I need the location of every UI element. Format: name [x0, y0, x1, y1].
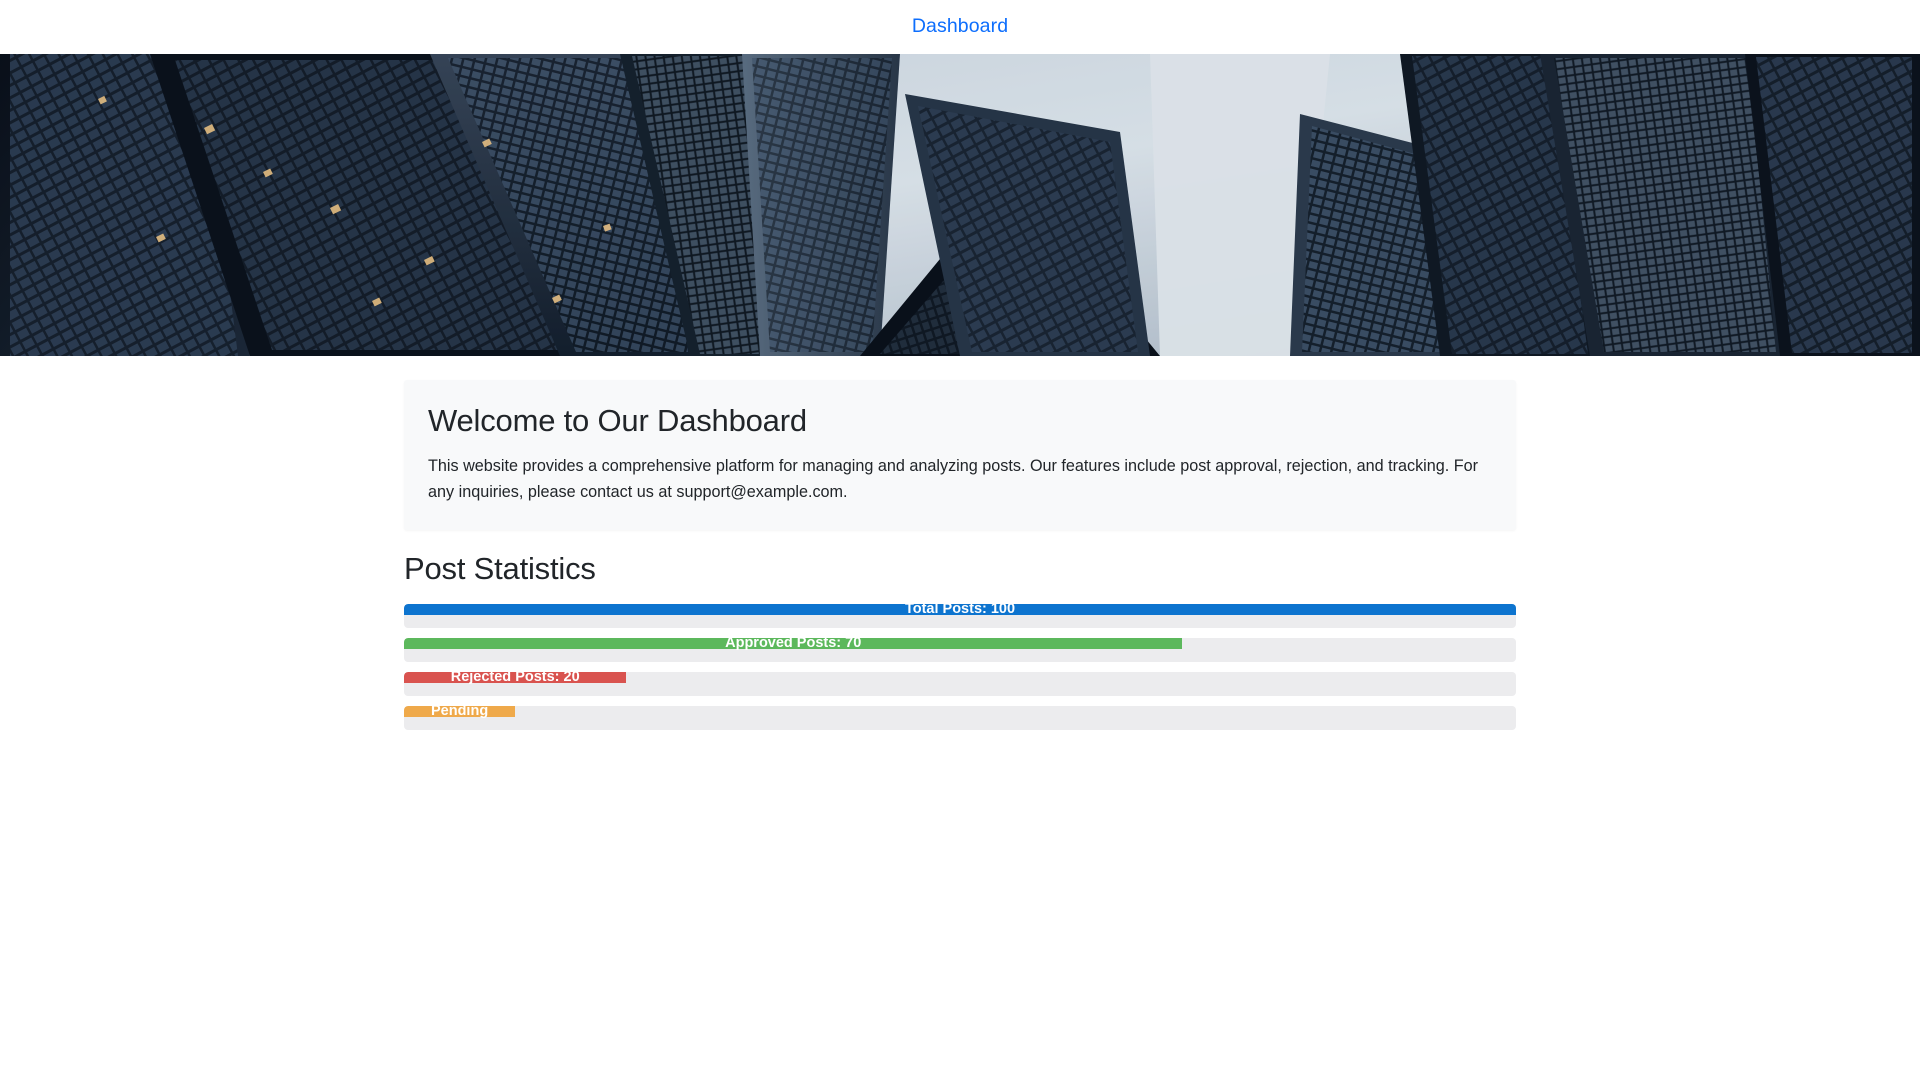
- welcome-paragraph: This website provides a comprehensive pl…: [428, 453, 1492, 505]
- page-container: Welcome to Our Dashboard This website pr…: [404, 380, 1516, 730]
- progress-track-total-posts: Total Posts: 100: [404, 604, 1516, 628]
- welcome-card: Welcome to Our Dashboard This website pr…: [404, 380, 1516, 530]
- welcome-title: Welcome to Our Dashboard: [428, 402, 1492, 439]
- statistics-bar-list: Total Posts: 100 Approved Posts: 70 Reje…: [404, 604, 1516, 730]
- progress-track-pending-posts: Pending: [404, 706, 1516, 730]
- hero-banner: [0, 54, 1920, 356]
- progress-fill-total-posts: [404, 604, 1516, 615]
- progress-track-rejected-posts: Rejected Posts: 20: [404, 672, 1516, 696]
- progress-fill-approved-posts: [404, 638, 1182, 649]
- hero-skyscrapers-image: [0, 54, 1920, 356]
- progress-fill-rejected-posts: [404, 672, 626, 683]
- post-statistics-title: Post Statistics: [404, 550, 1516, 587]
- navbar-brand-dashboard[interactable]: Dashboard: [912, 17, 1008, 37]
- post-statistics-section: Post Statistics Total Posts: 100 Approve…: [404, 550, 1516, 730]
- progress-fill-pending-posts: [404, 706, 515, 717]
- progress-track-approved-posts: Approved Posts: 70: [404, 638, 1516, 662]
- top-navbar: Dashboard: [0, 0, 1920, 54]
